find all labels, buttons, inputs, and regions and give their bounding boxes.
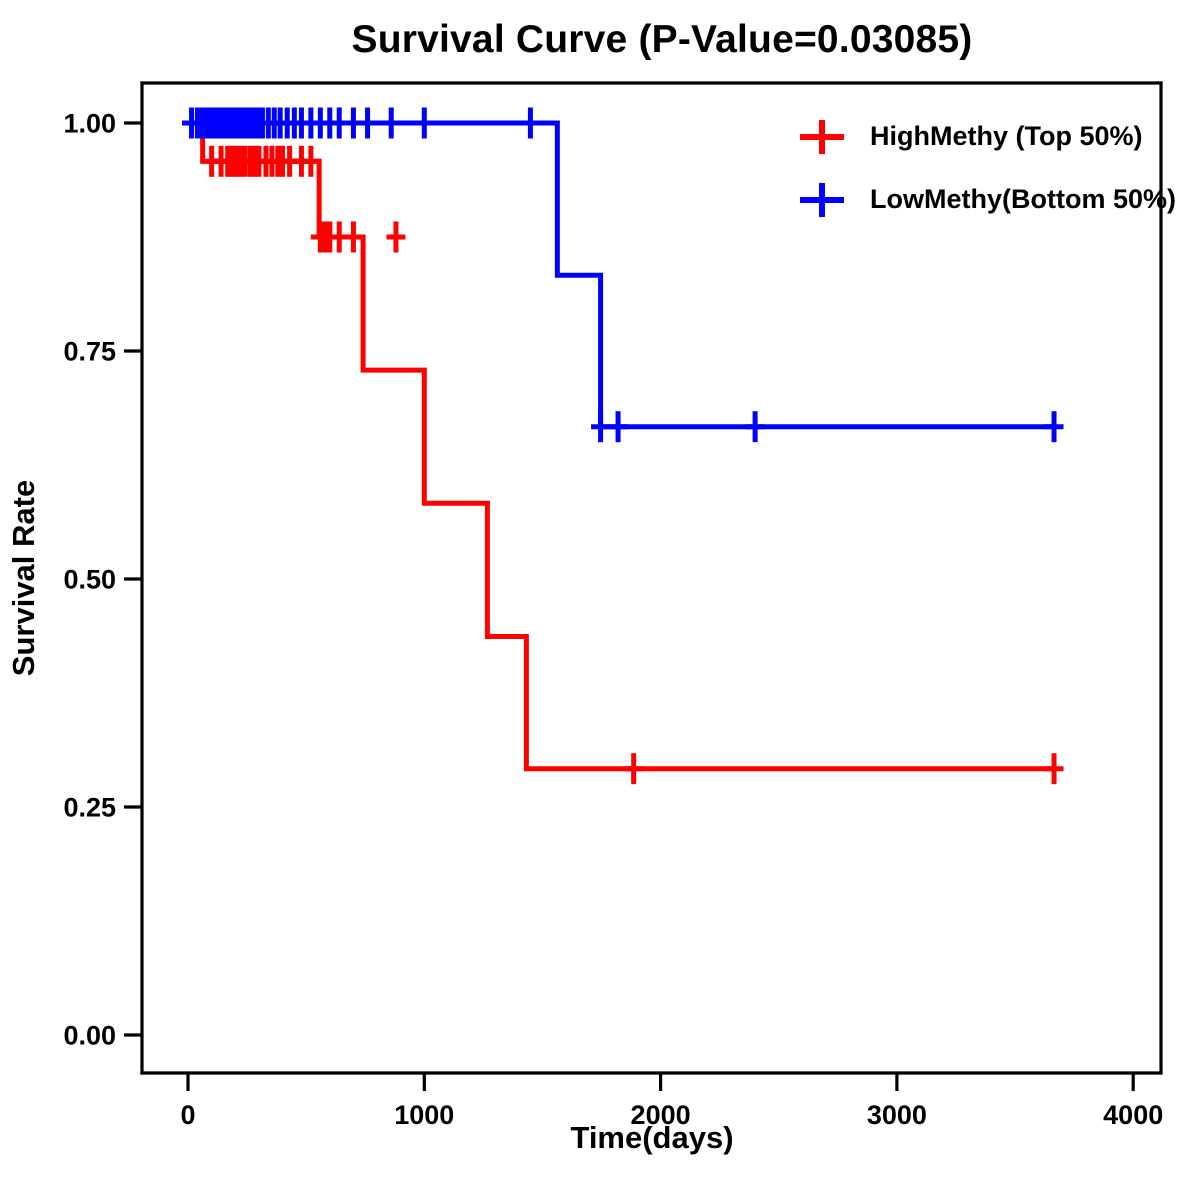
censor-mark <box>746 411 765 442</box>
censor-mark <box>609 411 628 442</box>
survival-step-line <box>188 123 1054 769</box>
legend-label: HighMethy (Top 50%) <box>870 121 1143 151</box>
x-tick-label: 3000 <box>867 1100 927 1130</box>
y-tick-label: 0.00 <box>63 1021 116 1051</box>
chart-title: Survival Curve (P-Value=0.03085) <box>352 18 973 61</box>
legend-item[interactable]: LowMethy(Bottom 50%) <box>800 183 1176 217</box>
y-tick-label: 0.75 <box>63 337 116 367</box>
plot-frame <box>142 83 1161 1073</box>
censor-mark <box>521 108 540 139</box>
x-tick-label: 1000 <box>394 1100 454 1130</box>
y-tick-label: 1.00 <box>63 109 116 139</box>
censor-mark <box>591 411 610 442</box>
legend-item[interactable]: HighMethy (Top 50%) <box>800 120 1143 154</box>
y-tick-label: 0.50 <box>63 565 116 595</box>
x-tick-label: 0 <box>180 1100 195 1130</box>
censor-mark <box>624 753 643 784</box>
censor-mark <box>358 108 377 139</box>
censor-mark <box>382 108 401 139</box>
censor-mark <box>1045 753 1064 784</box>
survival-curve-figure: Survival Curve (P-Value=0.03085) 0.000.2… <box>0 0 1200 1200</box>
censor-mark <box>344 222 363 253</box>
legend: HighMethy (Top 50%)LowMethy(Bottom 50%) <box>800 120 1176 217</box>
plot-canvas: Survival Curve (P-Value=0.03085) 0.000.2… <box>0 0 1200 1200</box>
x-tick-label: 4000 <box>1103 1100 1163 1130</box>
survival-curves <box>188 123 1054 769</box>
y-axis-ticks: 0.000.250.500.751.00 <box>63 109 142 1051</box>
x-axis-title: Time(days) <box>570 1120 733 1155</box>
censor-mark <box>1045 411 1064 442</box>
legend-label: LowMethy(Bottom 50%) <box>870 184 1176 214</box>
censor-mark <box>415 108 434 139</box>
y-axis-title: Survival Rate <box>6 480 41 676</box>
censor-mark <box>386 222 405 253</box>
y-tick-label: 0.25 <box>63 793 116 823</box>
